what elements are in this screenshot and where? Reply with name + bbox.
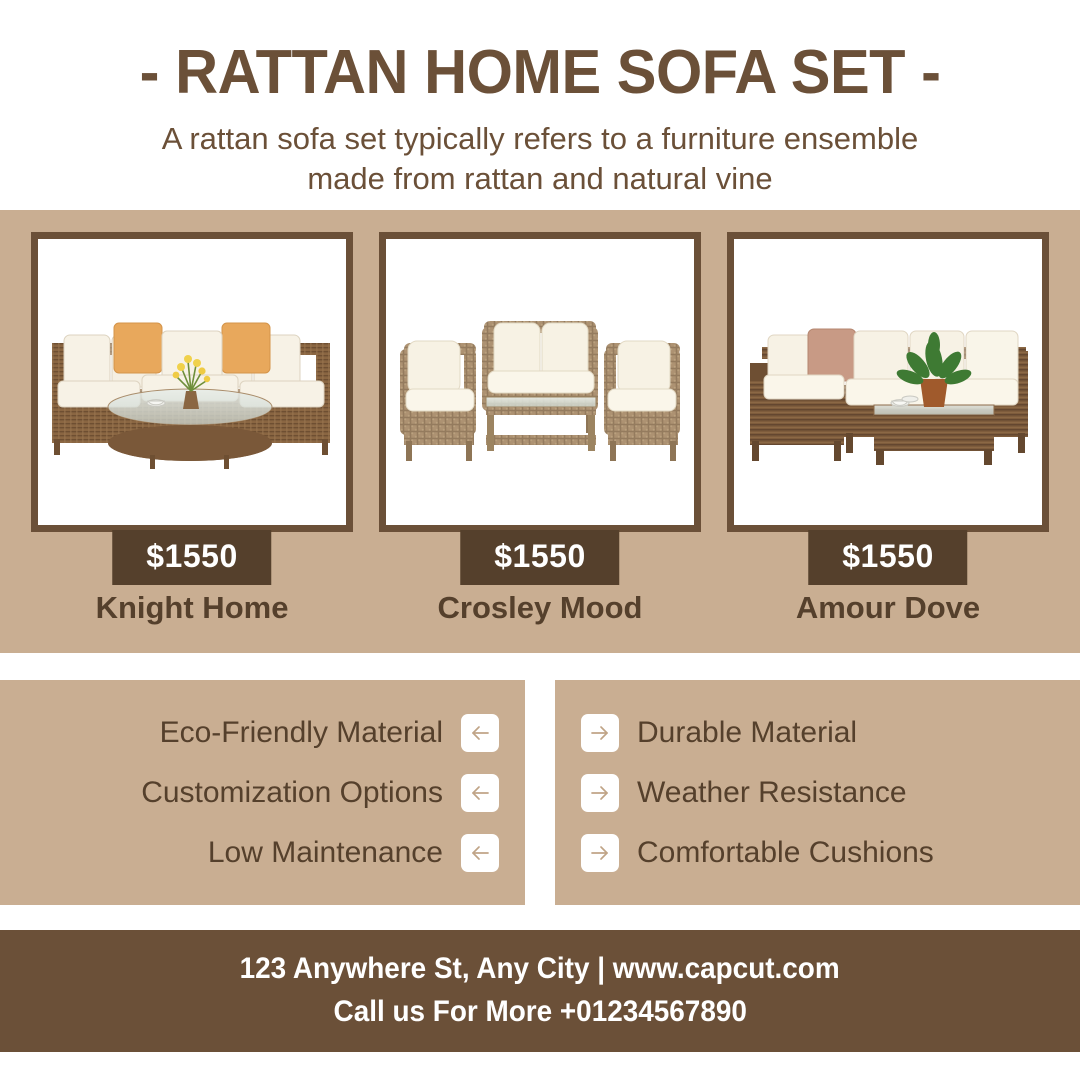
price-badge: $1550: [460, 530, 619, 585]
page-title: - RATTAN HOME SOFA SET -: [140, 40, 941, 105]
arrow-left-icon[interactable]: [461, 774, 499, 812]
product-name: Crosley Mood: [379, 590, 701, 626]
arrow-left-icon[interactable]: [461, 714, 499, 752]
product-grid: $1550 Knight Home: [31, 232, 1049, 532]
sectional-sofa-illustration: [38, 239, 346, 525]
page-subtitle: A rattan sofa set typically refers to a …: [120, 119, 960, 198]
product-photo-frame[interactable]: [727, 232, 1049, 532]
features-panel-left: Eco-Friendly Material Customization Opti…: [0, 680, 525, 905]
product-photo-frame[interactable]: [379, 232, 701, 532]
corner-sectional-illustration: [734, 239, 1042, 525]
product-photo: [38, 239, 346, 525]
feature-item[interactable]: Comfortable Cushions: [581, 834, 934, 872]
feature-label: Low Maintenance: [208, 836, 443, 870]
arrow-left-icon[interactable]: [461, 834, 499, 872]
feature-label: Eco-Friendly Material: [160, 716, 443, 750]
arrow-right-icon[interactable]: [581, 834, 619, 872]
product-name: Amour Dove: [727, 590, 1049, 626]
feature-label: Comfortable Cushions: [637, 836, 934, 870]
feature-item[interactable]: Weather Resistance: [581, 774, 907, 812]
product-name: Knight Home: [31, 590, 353, 626]
footer-contact-bar: 123 Anywhere St, Any City | www.capcut.c…: [0, 930, 1080, 1052]
feature-item[interactable]: Customization Options: [141, 774, 499, 812]
product-photo-frame[interactable]: [31, 232, 353, 532]
feature-item[interactable]: Low Maintenance: [208, 834, 499, 872]
product-card[interactable]: $1550 Amour Dove: [727, 232, 1049, 532]
footer-address-line: 123 Anywhere St, Any City | www.capcut.c…: [240, 948, 840, 991]
header: - RATTAN HOME SOFA SET - A rattan sofa s…: [0, 0, 1080, 210]
loveseat-set-illustration: [386, 239, 694, 525]
feature-label: Durable Material: [637, 716, 857, 750]
price-badge: $1550: [808, 530, 967, 585]
feature-label: Customization Options: [141, 776, 443, 810]
features-panel-right: Durable Material Weather Resistance Comf…: [555, 680, 1080, 905]
feature-item[interactable]: Eco-Friendly Material: [160, 714, 499, 752]
product-photo: [734, 239, 1042, 525]
feature-label: Weather Resistance: [637, 776, 907, 810]
arrow-right-icon[interactable]: [581, 714, 619, 752]
features-section: Eco-Friendly Material Customization Opti…: [0, 680, 1080, 905]
product-photo: [386, 239, 694, 525]
arrow-right-icon[interactable]: [581, 774, 619, 812]
feature-item[interactable]: Durable Material: [581, 714, 857, 752]
price-badge: $1550: [112, 530, 271, 585]
products-band: $1550 Knight Home: [0, 210, 1080, 653]
product-card[interactable]: $1550 Crosley Mood: [379, 232, 701, 532]
footer-phone-line: Call us For More +01234567890: [333, 991, 746, 1034]
product-card[interactable]: $1550 Knight Home: [31, 232, 353, 532]
